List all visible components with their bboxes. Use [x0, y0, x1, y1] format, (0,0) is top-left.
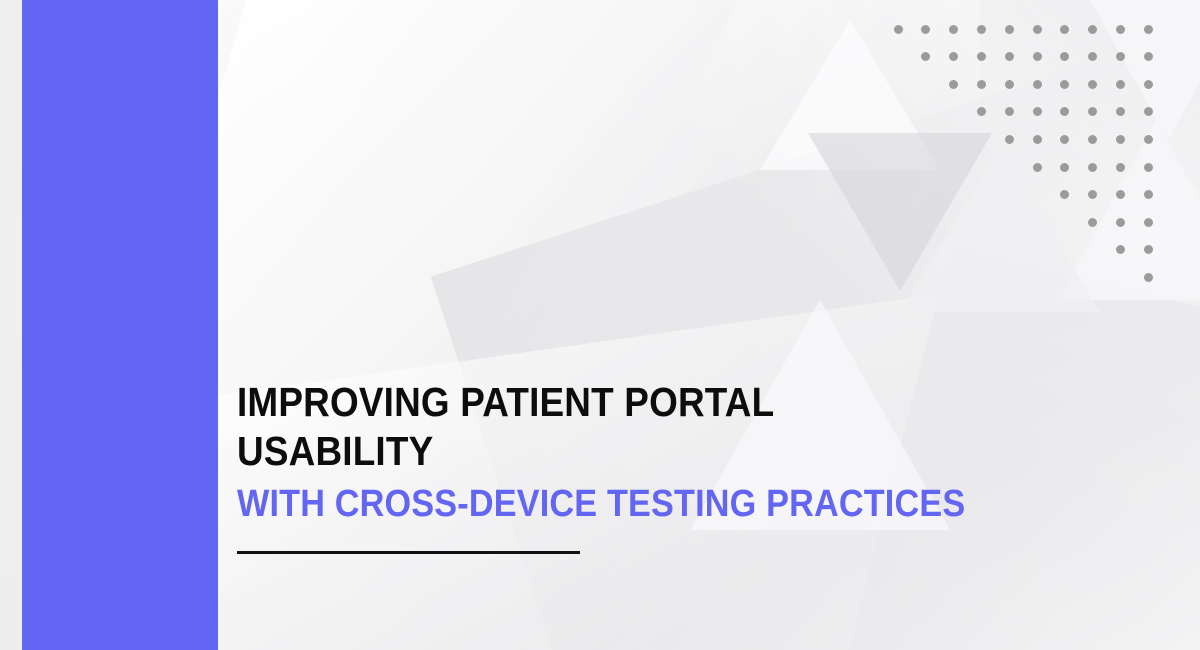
title-slide: IMPROVING PATIENT PORTAL USABILITY WITH … — [0, 0, 1200, 650]
page-title-line-1: IMPROVING PATIENT PORTAL — [237, 378, 1029, 427]
page-subtitle: WITH CROSS-DEVICE TESTING PRACTICES — [237, 480, 1029, 528]
page-title-line-2: USABILITY — [237, 427, 1029, 476]
title-block: IMPROVING PATIENT PORTAL USABILITY WITH … — [237, 378, 1117, 528]
title-underline-rule — [237, 551, 580, 554]
left-gutter — [0, 0, 22, 650]
accent-sidebar-bar — [22, 0, 218, 650]
